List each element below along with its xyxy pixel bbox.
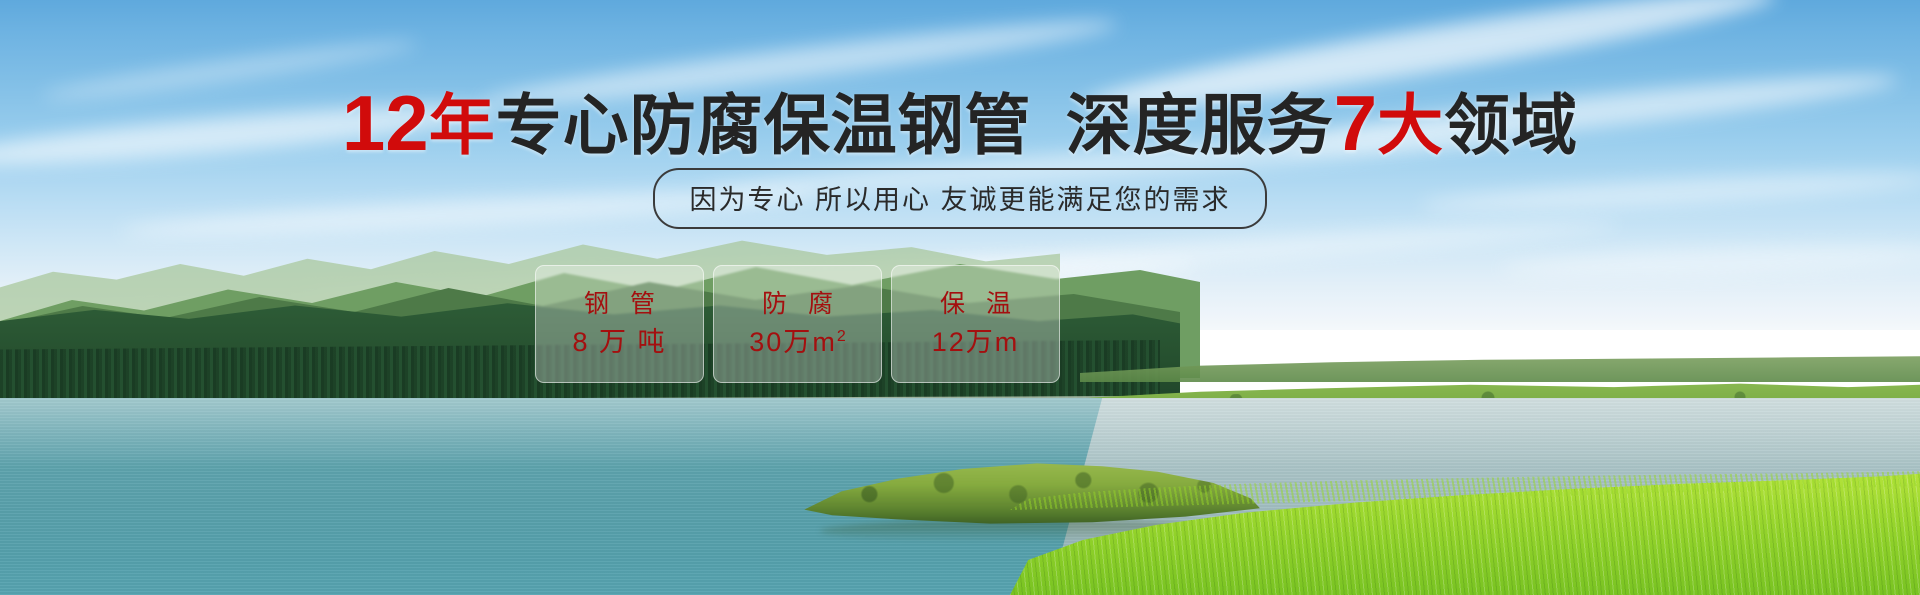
stat-card-title: 保 温: [933, 292, 1018, 317]
headline-phrase-one: 专心防腐保温钢管: [496, 88, 1032, 162]
headline-phrase-three: 领域: [1444, 88, 1578, 162]
stat-card-value-text: 8 万 吨: [572, 327, 666, 357]
stat-card-title: 防 腐: [755, 292, 840, 317]
headline-fields-unit: 大: [1377, 88, 1444, 162]
banner-headline: 12年专心防腐保温钢管深度服务7大领域: [0, 84, 1920, 162]
stat-card-insulation[interactable]: 保 温 12万m: [891, 265, 1060, 383]
far-bank: [1080, 352, 1920, 382]
headline-years-number: 12: [342, 79, 429, 167]
headline-fields-number: 7: [1334, 79, 1377, 167]
headline-phrase-two: 深度服务: [1066, 88, 1334, 162]
stat-card-title: 钢 管: [577, 292, 662, 317]
subtitle-container: 因为专心 所以用心 友诚更能满足您的需求: [0, 168, 1920, 229]
promo-banner: 12年专心防腐保温钢管深度服务7大领域 因为专心 所以用心 友诚更能满足您的需求…: [0, 0, 1920, 595]
stat-card-group: 钢 管 8 万 吨 防 腐 30万m2 保 温 12万m: [535, 265, 1060, 383]
headline-years-unit: 年: [429, 88, 496, 162]
stat-card-value-text: 30万m: [749, 327, 837, 357]
banner-subtitle: 因为专心 所以用心 友诚更能满足您的需求: [653, 168, 1266, 229]
stat-card-value-text: 12万m: [932, 327, 1020, 357]
stat-card-value: 12万m: [932, 329, 1020, 356]
stat-card-value: 8 万 吨: [572, 329, 666, 356]
water-sheen: [0, 398, 1920, 468]
stat-card-anticorrosion[interactable]: 防 腐 30万m2: [713, 265, 882, 383]
stat-card-steel-pipe[interactable]: 钢 管 8 万 吨: [535, 265, 704, 383]
stat-card-value-superscript: 2: [837, 328, 846, 345]
stat-card-value: 30万m2: [749, 329, 845, 356]
